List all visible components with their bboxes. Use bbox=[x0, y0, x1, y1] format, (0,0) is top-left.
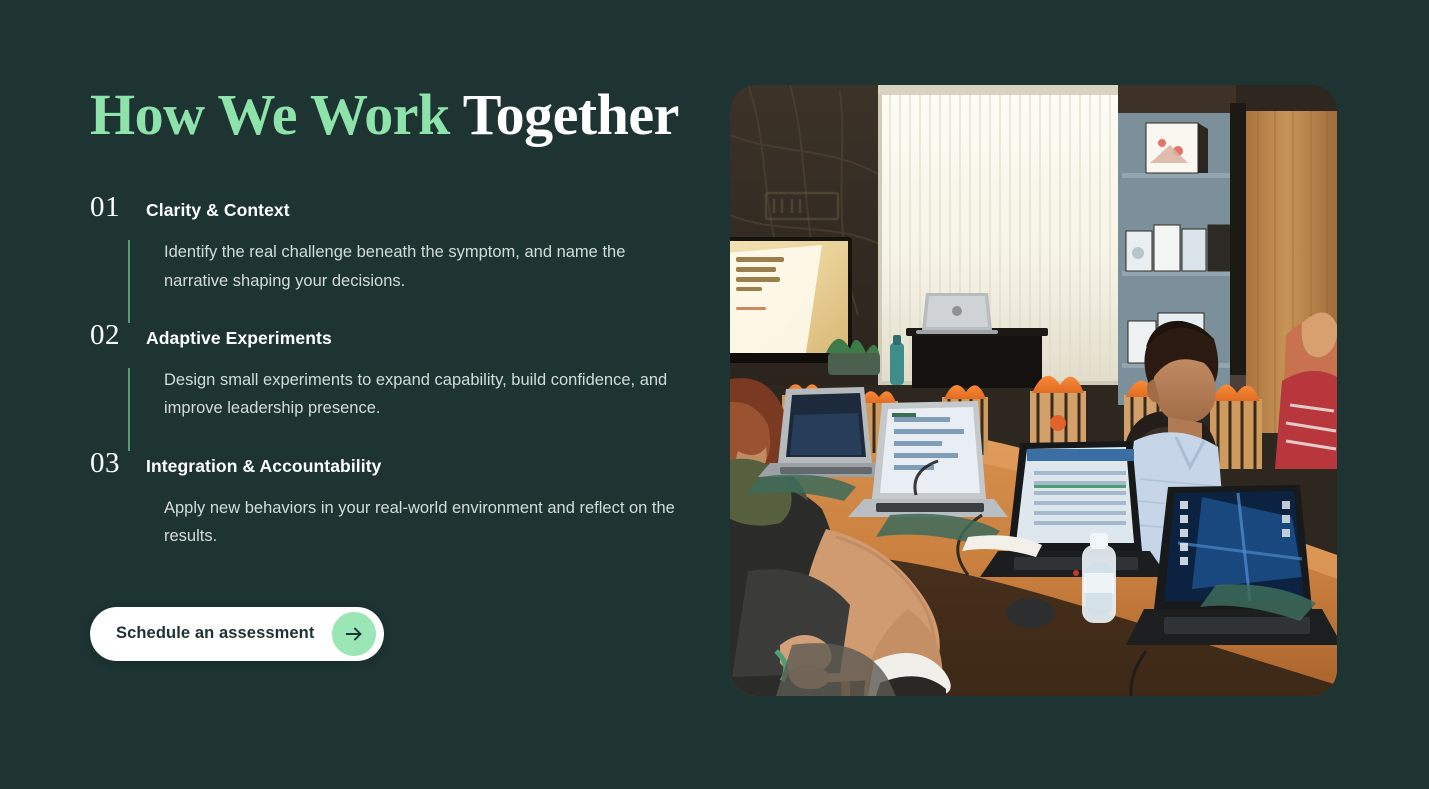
step-title: Adaptive Experiments bbox=[146, 330, 332, 348]
step-header: 01 Clarity & Context bbox=[90, 193, 690, 222]
steps-list: 01 Clarity & Context Identify the real c… bbox=[90, 193, 690, 550]
step-header: 02 Adaptive Experiments bbox=[90, 321, 690, 350]
page-title-plain: Together bbox=[450, 82, 679, 147]
meeting-room-photo bbox=[730, 85, 1337, 696]
schedule-assessment-label: Schedule an assessment bbox=[116, 624, 314, 643]
cta-wrapper: Schedule an assessment bbox=[90, 607, 690, 661]
step-number: 01 bbox=[90, 193, 146, 222]
step-number: 03 bbox=[90, 449, 146, 478]
step-description: Apply new behaviors in your real-world e… bbox=[164, 494, 684, 551]
step-connector-line bbox=[128, 240, 130, 323]
step-description: Design small experiments to expand capab… bbox=[164, 366, 684, 423]
step-body-wrap: Apply new behaviors in your real-world e… bbox=[90, 494, 690, 551]
step-item: 02 Adaptive Experiments Design small exp… bbox=[90, 321, 690, 423]
step-item: 03 Integration & Accountability Apply ne… bbox=[90, 449, 690, 551]
meeting-room-illustration bbox=[730, 85, 1337, 696]
page-title-accent: How We Work bbox=[90, 82, 450, 147]
page-title: How We Work Together bbox=[90, 85, 690, 145]
step-item: 01 Clarity & Context Identify the real c… bbox=[90, 193, 690, 295]
arrow-right-icon bbox=[332, 612, 376, 656]
step-description: Identify the real challenge beneath the … bbox=[164, 238, 684, 295]
step-title: Integration & Accountability bbox=[146, 458, 382, 476]
step-body-wrap: Identify the real challenge beneath the … bbox=[90, 238, 690, 295]
step-title: Clarity & Context bbox=[146, 202, 290, 220]
step-body-wrap: Design small experiments to expand capab… bbox=[90, 366, 690, 423]
step-header: 03 Integration & Accountability bbox=[90, 449, 690, 478]
content-column: How We Work Together 01 Clarity & Contex… bbox=[90, 85, 690, 661]
schedule-assessment-button[interactable]: Schedule an assessment bbox=[90, 607, 384, 661]
step-number: 02 bbox=[90, 321, 146, 350]
step-connector-line bbox=[128, 368, 130, 451]
page-root: How We Work Together 01 Clarity & Contex… bbox=[0, 0, 1429, 789]
